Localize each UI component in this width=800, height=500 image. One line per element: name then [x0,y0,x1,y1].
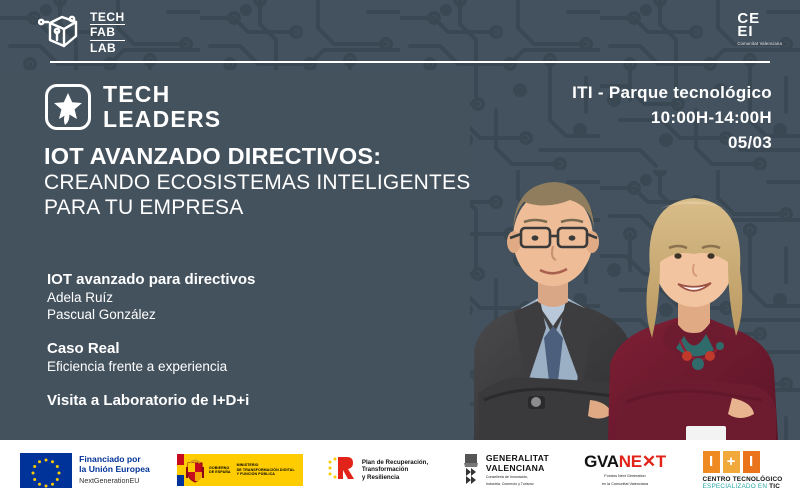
agenda-item-subtitle: Eficiencia frente a experiencia [47,358,255,375]
agenda-item-title: Visita a Laboratorio de I+D+i [47,391,255,410]
woman-in-burgundy-top [608,198,778,440]
tech-leaders-brand[interactable]: TECH LEADERS [45,82,221,132]
gvanext-sub2: en la Comunitat Valenciana [584,482,666,487]
header-divider [50,61,770,63]
brand-line2: LEADERS [103,107,221,132]
gvanext-main-c: T [656,452,666,471]
cube-box-icon [38,10,82,55]
eu-text-line3: NextGenerationEU [79,476,150,486]
prtr-logo[interactable]: Plan de Recuperación, Transformación y R… [310,440,445,500]
eu-flag-icon [20,453,72,488]
iti-block-1: I [703,451,720,473]
techfablab-line1: TECH [90,11,125,24]
prtr-line2: Transformación [362,466,428,474]
gvanext-main-b: NE [619,452,642,471]
ceei-logo[interactable]: CE EI Comunitat Valenciana [737,12,782,46]
gvanext-main-a: GVA [584,452,619,471]
prtr-r-icon [327,453,357,488]
event-time: 10:00H-14:00H [572,105,772,130]
generalitat-crest-icon [461,452,481,489]
gva-line1: GENERALITAT [486,453,549,463]
gva-sub1: Conselleria de Innovación, [486,475,549,480]
headline-block: IOT AVANZADO DIRECTIVOS: CREANDO ECOSIST… [44,142,470,220]
presenters-photo [440,150,800,440]
spain-gobierno-line2: DE ESPAÑA [209,470,231,474]
agenda-list: IOT avanzado para directivos Adela Ruíz … [47,270,255,426]
agenda-item: Visita a Laboratorio de I+D+i [47,391,255,410]
poster-root: TECH FAB LAB CE EI Comunitat Valenciana … [0,0,800,500]
gvanext-sub1: Fondos Next Generation [584,474,666,479]
event-info: ITI - Parque tecnológico 10:00H-14:00H 0… [572,80,772,155]
headline-subtitle-line2: PARA TU EMPRESA [44,195,470,220]
spain-coat-of-arms-icon [184,454,206,486]
agenda-item: IOT avanzado para directivos Adela Ruíz … [47,270,255,323]
gobierno-de-espana-logo[interactable]: GOBIERNO DE ESPAÑA MINISTERIO DE TRANSFO… [170,440,310,500]
star-leaf-icon [45,84,91,130]
gvanext-x-icon: ✕ [642,452,656,471]
eu-text-line1: Financiado por [79,454,150,464]
agenda-item-speaker: Pascual González [47,306,255,323]
iti-line2b: TIC [769,483,780,490]
eu-funding-logo[interactable]: Financiado por la Unión Europea NextGene… [0,440,170,500]
brand-line1: TECH [103,82,221,107]
spain-flag-bar-icon [177,454,184,486]
techfablab-line2: FAB [90,24,125,41]
iti-line1: CENTRO TECNOLÓGICO [703,476,783,483]
event-date: 05/03 [572,130,772,155]
iti-logo[interactable]: I + I CENTRO TECNOLÓGICO ESPECIALIZADO E… [685,440,800,500]
iti-block-2: I [743,451,760,473]
prtr-line3: y Resiliencia [362,474,428,482]
page-title: IOT AVANZADO DIRECTIVOS: [44,142,470,170]
man-with-glasses-in-suit [474,182,632,440]
techfablab-line3: LAB [90,42,125,55]
spain-ministerio-line3: Y FUNCIÓN PÚBLICA [237,472,295,476]
techfablab-wordmark: TECH FAB LAB [90,11,125,55]
event-location: ITI - Parque tecnológico [572,80,772,105]
agenda-item-speaker: Adela Ruíz [47,289,255,306]
gva-line2: VALENCIANA [486,463,549,473]
agenda-item-title: Caso Real [47,339,255,358]
eu-text-line2: la Unión Europea [79,464,150,474]
gva-sub2: Industria, Comercio y Turismo [486,482,549,487]
agenda-item: Caso Real Eficiencia frente a experienci… [47,339,255,375]
headline-subtitle-line1: CREANDO ECOSISTEMAS INTELIGENTES [44,170,470,195]
generalitat-valenciana-logo[interactable]: GENERALITAT VALENCIANA Conselleria de In… [445,440,565,500]
gvanext-logo[interactable]: GVANE✕T Fondos Next Generation en la Com… [565,440,685,500]
iti-line2a: ESPECIALIZADO EN [703,483,770,490]
tech-leaders-wordmark: TECH LEADERS [103,82,221,132]
techfablab-logo[interactable]: TECH FAB LAB [38,10,125,55]
ceei-subtitle: Comunitat Valenciana [737,41,782,46]
iti-block-plus: + [723,451,740,473]
footer-logo-bar: Financiado por la Unión Europea NextGene… [0,440,800,500]
prtr-line1: Plan de Recuperación, [362,459,428,467]
agenda-item-title: IOT avanzado para directivos [47,270,255,289]
